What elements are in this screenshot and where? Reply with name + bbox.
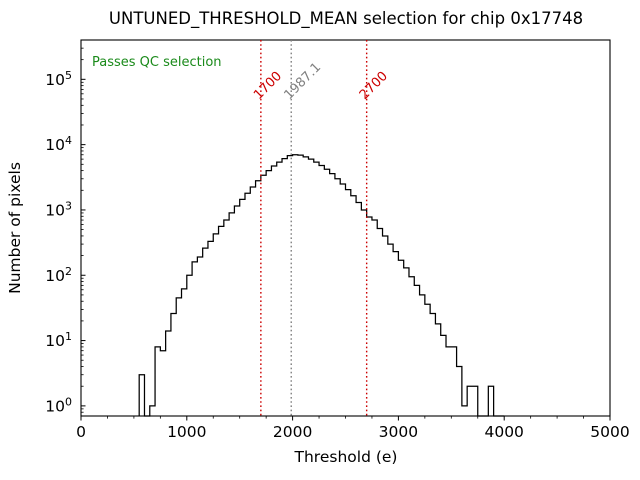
x-tick-label: 4000 <box>484 423 523 441</box>
x-tick-label: 3000 <box>379 423 418 441</box>
threshold-label-upper-cut: 2700 <box>357 69 391 103</box>
y-tick-label: 101 <box>45 330 72 350</box>
y-tick-label: 100 <box>45 395 72 415</box>
x-tick-label: 5000 <box>590 423 629 441</box>
y-tick-label: 102 <box>45 265 72 285</box>
y-tick-label: 103 <box>45 199 72 219</box>
threshold-line-labels: 17001987.12700 <box>251 60 391 103</box>
x-tick-label: 1000 <box>167 423 206 441</box>
chart-canvas: UNTUNED_THRESHOLD_MEAN selection for chi… <box>0 0 640 480</box>
x-tick-label: 2000 <box>273 423 312 441</box>
y-tick-label: 104 <box>45 134 72 154</box>
histogram-series <box>139 155 504 416</box>
page-title: UNTUNED_THRESHOLD_MEAN selection for chi… <box>109 9 583 29</box>
major-ticks <box>81 79 610 420</box>
chart-title-group: UNTUNED_THRESHOLD_MEAN selection for chi… <box>109 9 583 29</box>
threshold-label-lower-cut: 1700 <box>251 69 285 103</box>
x-tick-label: 0 <box>76 423 86 441</box>
y-tick-labels: 100101102103104105 <box>45 69 72 416</box>
qc-status-annotation: Passes QC selection <box>92 55 222 70</box>
x-axis-label: Threshold (e) <box>294 448 398 466</box>
threshold-lines <box>261 40 367 416</box>
y-axis-label: Number of pixels <box>6 162 24 294</box>
x-tick-labels: 010002000300040005000 <box>76 423 630 441</box>
plot-frame <box>81 40 610 416</box>
threshold-label-mean: 1987.1 <box>281 60 324 103</box>
chart-figure: UNTUNED_THRESHOLD_MEAN selection for chi… <box>0 0 640 480</box>
minor-ticks <box>81 40 584 419</box>
y-tick-label: 105 <box>45 69 72 89</box>
histogram-step-line <box>139 155 504 416</box>
